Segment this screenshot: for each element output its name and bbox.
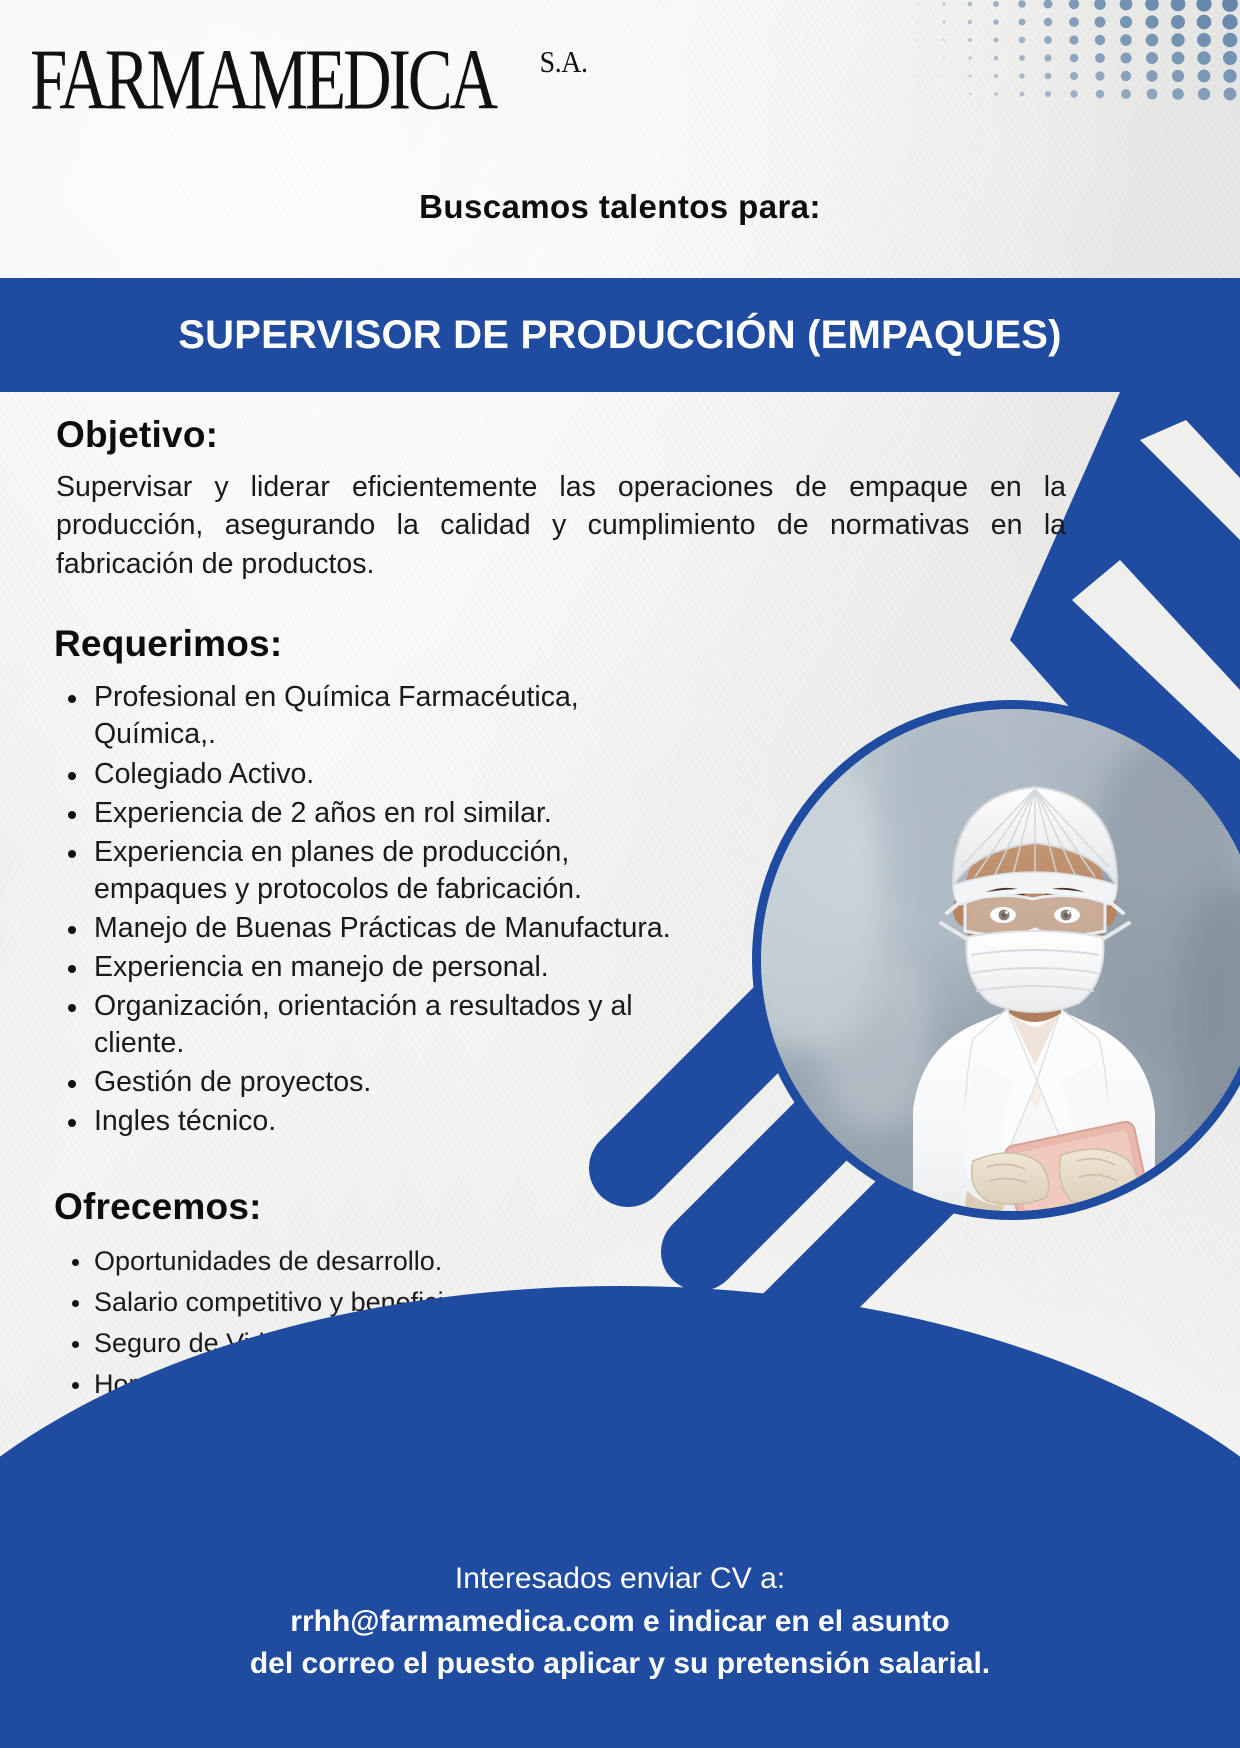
requerimos-heading: Requerimos: [54,623,1240,665]
requerimos-list-item: Manejo de Buenas Prácticas de Manufactur… [46,910,686,947]
requerimos-list-item: Colegiado Activo. [46,756,686,793]
footer-line-1: Interesados enviar CV a: [0,1558,1240,1601]
job-poster: FARMAMEDICA S.A. Buscamos talentos para:… [0,0,1240,1748]
requerimos-list-item: Profesional en Química Farmacéutica, Quí… [46,679,686,753]
contact-footer: Interesados enviar CV a: rrhh@farmamedic… [0,1558,1240,1686]
requerimos-list-item: Gestión de proyectos. [46,1064,686,1101]
objetivo-heading: Objetivo: [56,414,1192,456]
job-title: SUPERVISOR DE PRODUCCIÓN (EMPAQUES) [178,313,1061,358]
logo-suffix: S.A. [539,44,587,80]
job-title-band: SUPERVISOR DE PRODUCCIÓN (EMPAQUES) [0,278,1240,392]
poster-body: Objetivo: Supervisar y liderar eficiente… [0,392,1240,1408]
requerimos-list-item: Experiencia en planes de producción, emp… [46,834,686,908]
ofrecemos-heading: Ofrecemos: [54,1186,1240,1228]
requerimos-list: Profesional en Química Farmacéutica, Quí… [46,679,1240,1140]
footer-line-3: del correo el puesto aplicar y su preten… [0,1643,1240,1686]
requerimos-list-item: Experiencia de 2 años en rol similar. [46,795,686,832]
requerimos-list-item: Organización, orientación a resultados y… [46,988,686,1062]
objetivo-section: Objetivo: Supervisar y liderar eficiente… [0,392,1240,583]
objetivo-body: Supervisar y liderar eficientemente las … [56,468,1066,583]
footer-line-2[interactable]: rrhh@farmamedica.com e indicar en el asu… [0,1601,1240,1644]
logo-wordmark: FARMAMEDICA [30,38,495,121]
halftone-dots-decoration [900,0,1240,104]
ofrecemos-list-item: Oportunidades de desarrollo. [46,1244,846,1279]
requerimos-list-item: Experiencia en manejo de personal. [46,949,686,986]
requerimos-section: Requerimos: Profesional en Química Farma… [0,583,1240,1140]
kicker-text: Buscamos talentos para: [0,188,1240,226]
company-logo: FARMAMEDICA S.A. [30,38,590,112]
requerimos-list-item: Ingles técnico. [46,1103,686,1140]
